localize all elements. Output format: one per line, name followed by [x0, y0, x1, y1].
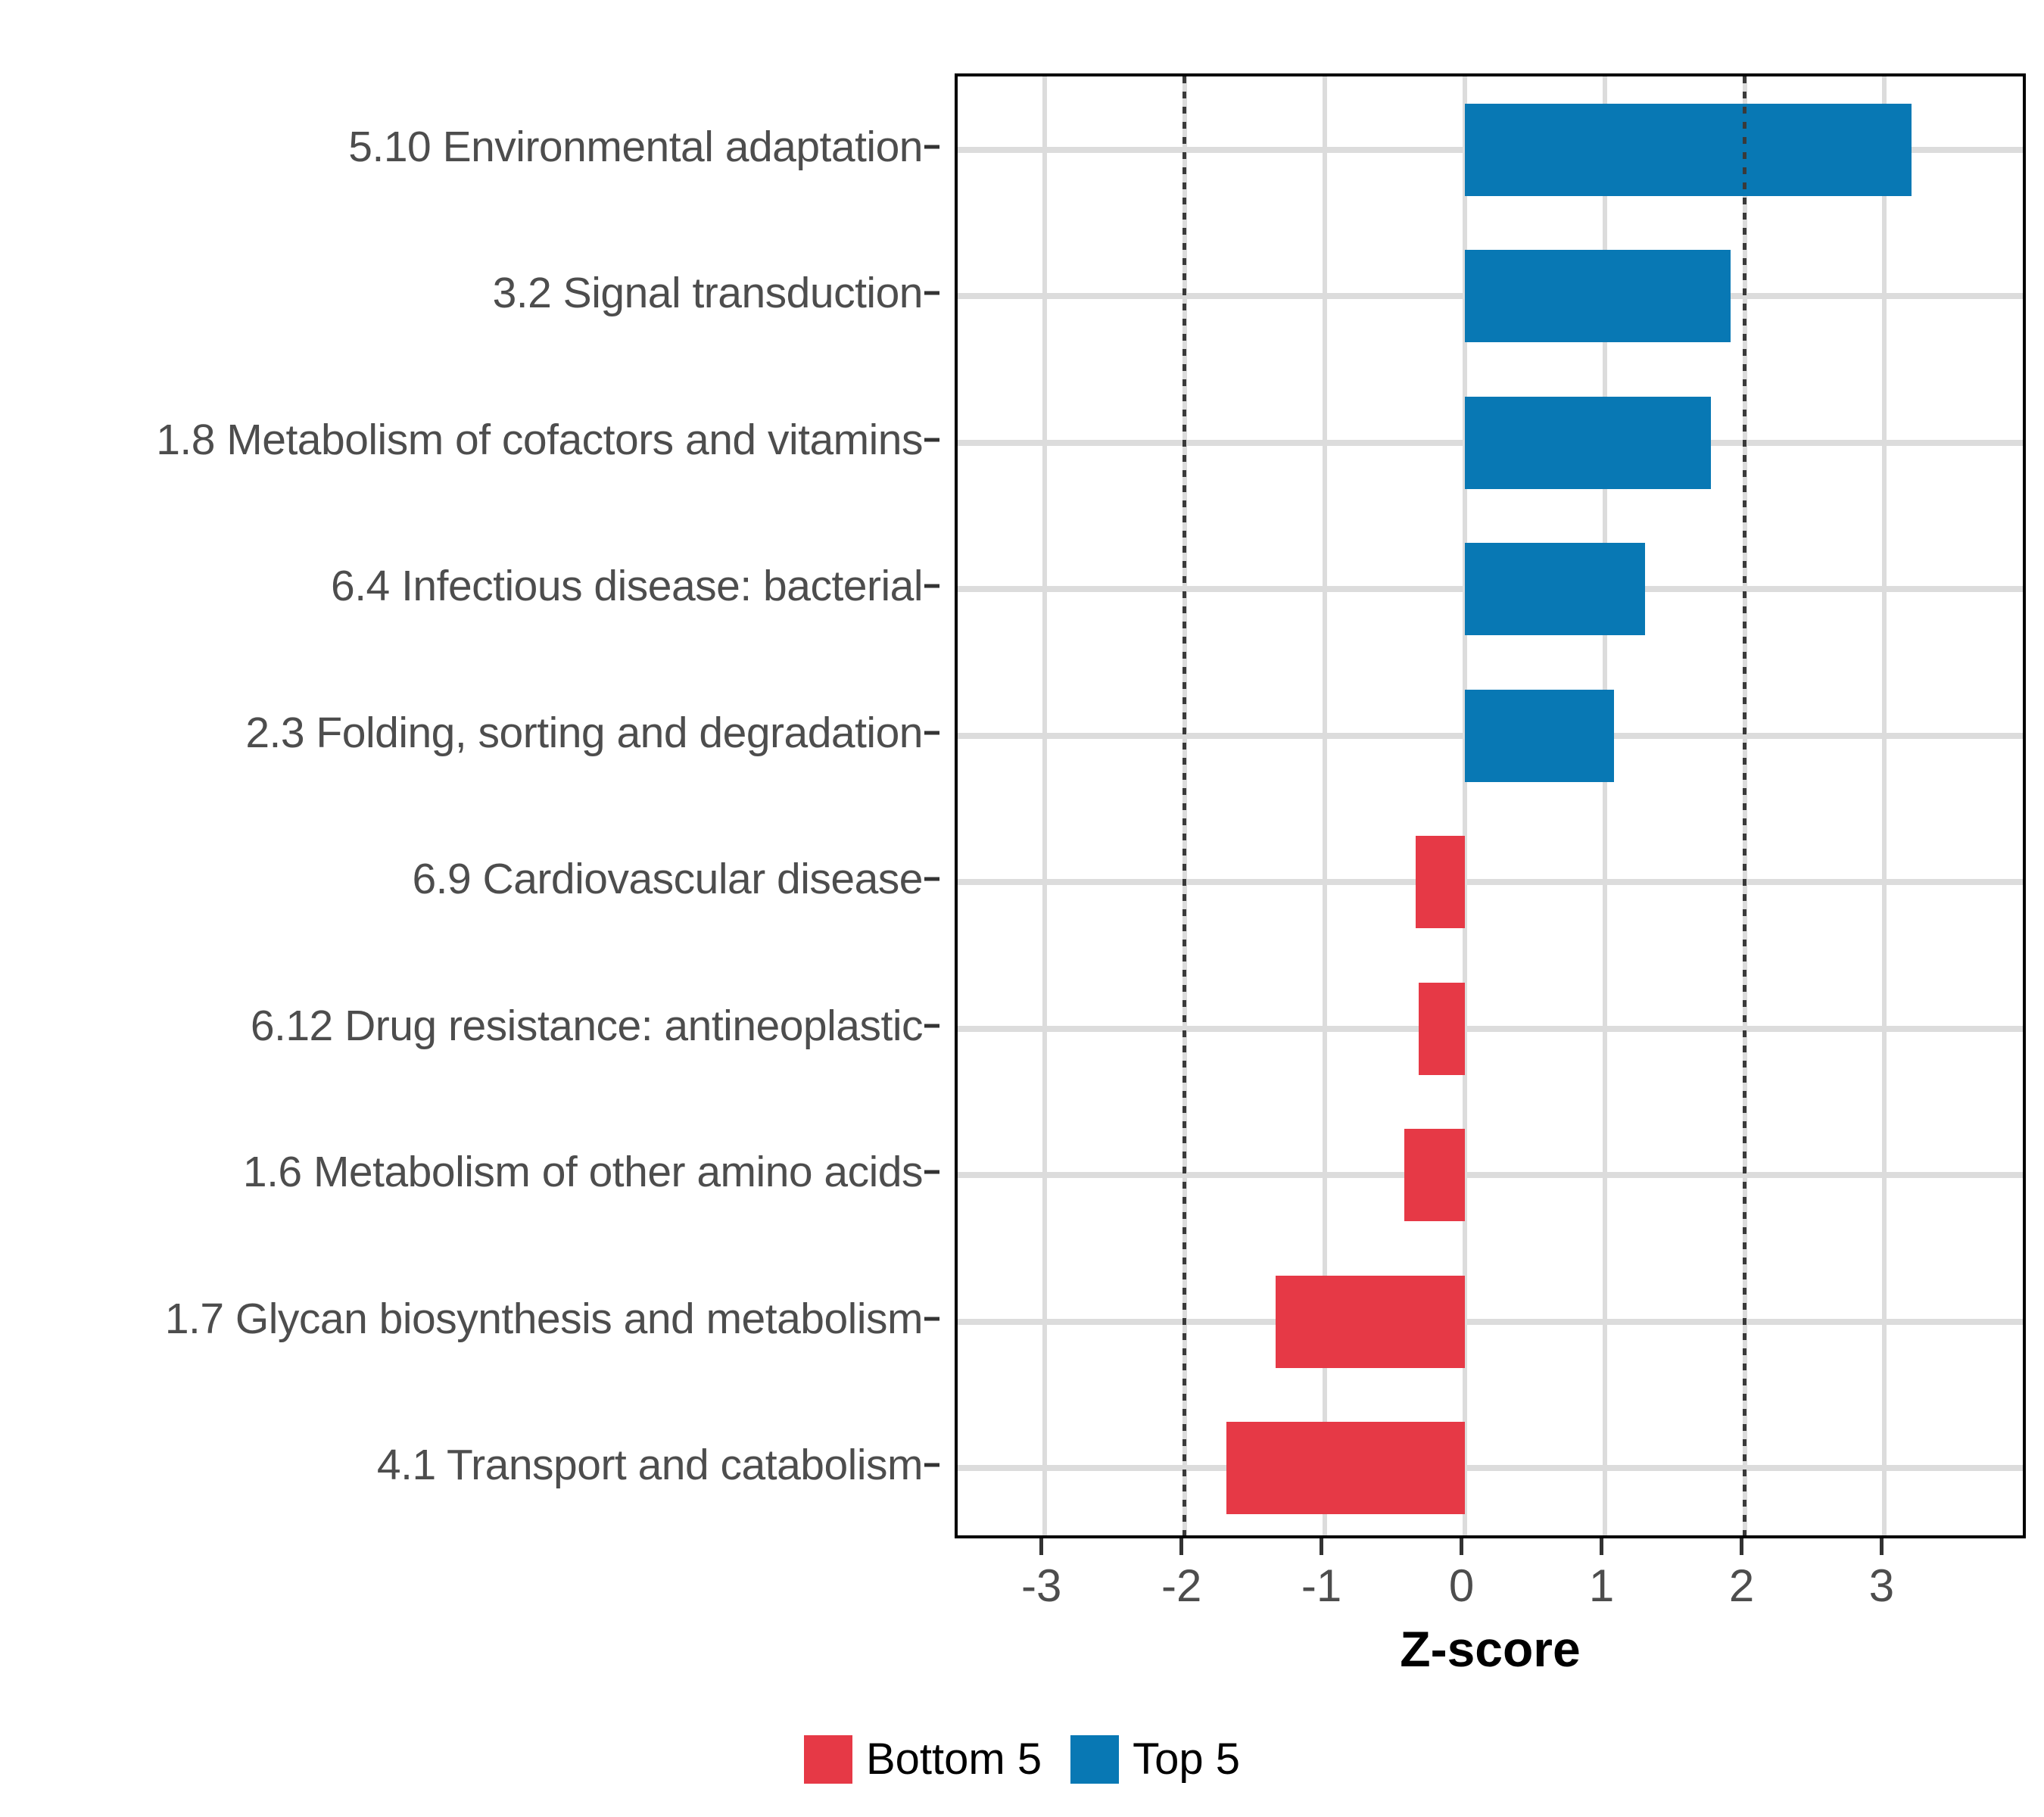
y-axis-tick-mark — [924, 1317, 939, 1320]
legend-label: Bottom 5 — [866, 1734, 1042, 1784]
bar — [1465, 250, 1731, 342]
x-axis-title: Z-score — [955, 1620, 2026, 1678]
legend-swatch-icon — [804, 1735, 852, 1784]
y-axis-tick-label: 4.1 Transport and catabolism — [377, 1440, 923, 1490]
y-axis-tick-label: 5.10 Environmental adaptation — [348, 122, 923, 172]
bar — [1419, 983, 1465, 1075]
bar — [1416, 836, 1465, 928]
y-axis-tick-label: 1.8 Metabolism of cofactors and vitamins — [156, 415, 923, 465]
x-axis-tick-label: -1 — [1301, 1560, 1341, 1612]
x-axis-tick-mark — [1740, 1538, 1743, 1555]
bar — [1465, 690, 1615, 782]
y-axis-tick-mark — [924, 438, 939, 441]
x-axis-tick-label: -3 — [1021, 1560, 1061, 1612]
threshold-line — [1182, 76, 1186, 1535]
x-axis-tick-mark — [1039, 1538, 1043, 1555]
x-axis-tick-label: 3 — [1869, 1560, 1894, 1612]
threshold-line — [1743, 76, 1746, 1535]
y-axis-tick-label: 6.12 Drug resistance: antineoplastic — [251, 1001, 923, 1051]
x-axis-tick-label: 2 — [1729, 1560, 1754, 1612]
y-axis-tick-label: 3.2 Signal transduction — [493, 268, 923, 318]
chart-legend: Bottom 5Top 5 — [0, 1734, 2044, 1784]
bar — [1465, 397, 1712, 489]
legend-item: Bottom 5 — [804, 1734, 1042, 1784]
x-axis-tick-mark — [1179, 1538, 1183, 1555]
plot-panel — [955, 73, 2026, 1538]
gridline-horizontal — [958, 879, 2023, 885]
y-axis-tick-label: 6.4 Infectious disease: bacterial — [331, 561, 923, 611]
y-axis-tick-mark — [924, 145, 939, 148]
y-axis-tick-mark — [924, 877, 939, 881]
gridline-horizontal — [958, 1172, 2023, 1178]
bar — [1465, 543, 1646, 635]
bar — [1226, 1422, 1464, 1514]
y-axis-labels: 5.10 Environmental adaptation3.2 Signal … — [0, 73, 939, 1538]
y-axis-tick-mark — [924, 291, 939, 295]
gridline-horizontal — [958, 1026, 2023, 1032]
x-axis-tick-label: 1 — [1589, 1560, 1614, 1612]
x-axis-tick-mark — [1320, 1538, 1323, 1555]
y-axis-tick-mark — [924, 584, 939, 588]
legend-label: Top 5 — [1133, 1734, 1240, 1784]
y-axis-tick-mark — [924, 731, 939, 734]
legend-swatch-icon — [1070, 1735, 1119, 1784]
gridline-horizontal — [958, 1319, 2023, 1325]
y-axis-tick-mark — [924, 1170, 939, 1174]
x-axis-tick-mark — [1600, 1538, 1603, 1555]
chart-root: 5.10 Environmental adaptation3.2 Signal … — [0, 0, 2044, 1817]
bar — [1276, 1276, 1465, 1368]
x-axis-tick-mark — [1880, 1538, 1884, 1555]
legend-item: Top 5 — [1070, 1734, 1240, 1784]
y-axis-tick-label: 2.3 Folding, sorting and degradation — [245, 708, 923, 758]
y-axis-tick-label: 1.7 Glycan biosynthesis and metabolism — [165, 1294, 923, 1344]
y-axis-tick-mark — [924, 1024, 939, 1027]
bar — [1404, 1129, 1465, 1221]
y-axis-tick-label: 1.6 Metabolism of other amino acids — [243, 1147, 923, 1197]
y-axis-tick-label: 6.9 Cardiovascular disease — [412, 854, 923, 904]
gridline-horizontal — [958, 1465, 2023, 1471]
x-axis-tick-mark — [1460, 1538, 1463, 1555]
y-axis-tick-mark — [924, 1463, 939, 1467]
x-axis-tick-label: 0 — [1449, 1560, 1474, 1612]
bar — [1465, 104, 1912, 196]
x-axis-tick-label: -2 — [1161, 1560, 1201, 1612]
